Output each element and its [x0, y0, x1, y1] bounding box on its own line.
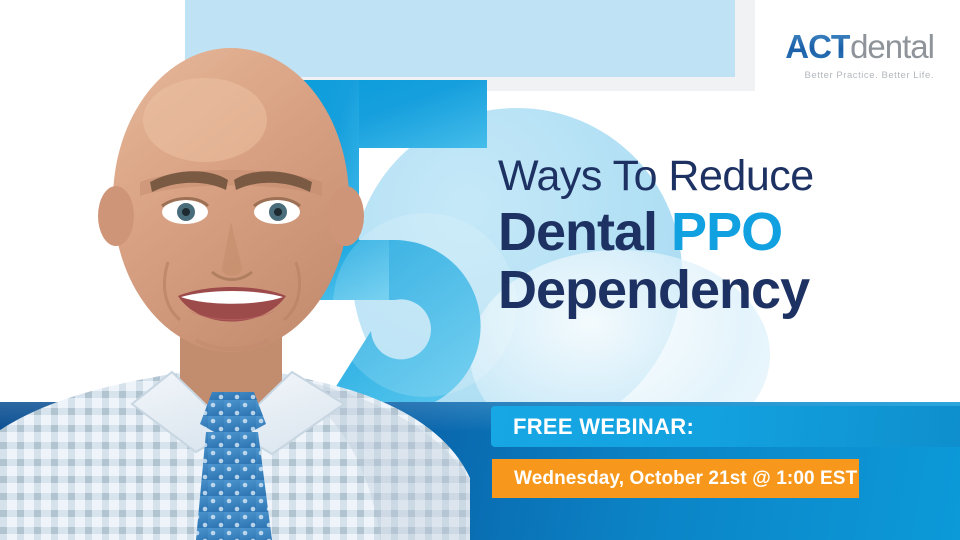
webinar-date-bar: Wednesday, October 21st @ 1:00 EST — [492, 459, 859, 498]
headline-line-3: Dependency — [498, 264, 814, 317]
headline-line-2-plain: Dental — [498, 202, 671, 262]
headline-line-2: Dental PPO — [498, 206, 814, 259]
headline-line-1: Ways To Reduce — [498, 155, 814, 197]
presenter-photo — [0, 0, 470, 540]
logo-dental-text: dental — [850, 28, 934, 65]
free-webinar-label: FREE WEBINAR: — [491, 414, 694, 440]
logo-tagline: Better Practice. Better Life. — [785, 70, 934, 81]
headline-block: Ways To Reduce Dental PPO Dependency — [498, 155, 814, 317]
headline-line-2-accent: PPO — [671, 202, 782, 262]
act-dental-logo: ACTdental Better Practice. Better Life. — [785, 30, 934, 81]
logo-act-text: ACT — [785, 28, 850, 65]
webinar-promo-banner: 5 — [0, 0, 960, 540]
logo-wordmark: ACTdental — [785, 30, 934, 63]
webinar-date-label: Wednesday, October 21st @ 1:00 EST — [492, 468, 857, 490]
free-webinar-bar: FREE WEBINAR: — [491, 406, 960, 447]
